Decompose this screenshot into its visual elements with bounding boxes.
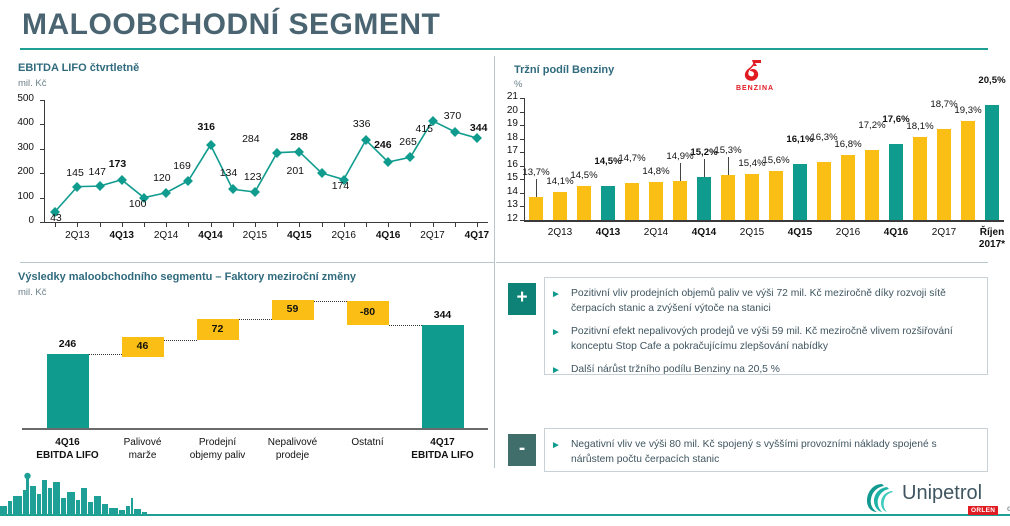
- bullet-arrow-icon: ►: [551, 287, 571, 302]
- waterfall-connector: [239, 319, 272, 320]
- line-value-label: 123: [244, 171, 262, 183]
- waterfall-x-label: Ostatní: [326, 436, 410, 449]
- y-tick: [40, 198, 44, 199]
- bar-chart-title: Tržní podíl Benziny: [514, 64, 614, 76]
- line-value-label: 100: [129, 198, 147, 210]
- line-data-point: [72, 182, 82, 192]
- y-tick-label: 15: [492, 172, 518, 183]
- unipetrol-wordmark: Unipetrol: [902, 482, 982, 505]
- x-tick: [55, 223, 56, 227]
- waterfall-x-label-line: objemy paliv: [176, 449, 260, 462]
- y-tick: [40, 222, 44, 223]
- line-value-label: 288: [290, 131, 308, 143]
- line-data-point: [117, 175, 127, 185]
- bar: [529, 197, 544, 220]
- line-x-tick-label: 4Q16: [366, 230, 410, 241]
- negative-bullet-text: Negativní vliv ve výši 80 mil. Kč spojen…: [571, 438, 977, 467]
- line-value-label: 415: [416, 123, 434, 135]
- line-data-point: [161, 188, 171, 198]
- line-x-tick-label: 2Q16: [322, 230, 366, 241]
- waterfall-x-label-line: Ostatní: [326, 436, 410, 449]
- positive-sign-badge: +: [508, 283, 536, 315]
- waterfall-x-label-line: EBITDA LIFO: [26, 449, 110, 462]
- benzina-wordmark: BENZINA: [724, 85, 786, 92]
- ebitda-lifo-line-chart: 0100200300400500431451471731001201693161…: [0, 92, 492, 252]
- line-data-point: [472, 133, 482, 143]
- waterfall-value-label: 246: [46, 338, 90, 350]
- line-data-point: [383, 157, 393, 167]
- positive-bullets-panel: ►Pozitivní vliv prodejních objemů paliv …: [544, 277, 988, 375]
- line-data-point: [361, 135, 371, 145]
- y-tick-label: 500: [8, 93, 34, 104]
- y-tick-label: 100: [8, 191, 34, 202]
- line-value-label: 336: [353, 118, 371, 130]
- x-tick: [144, 223, 145, 227]
- y-tick-label: 300: [8, 142, 34, 153]
- bullet-arrow-icon: ►: [551, 438, 571, 453]
- positive-bullet-text: Pozitivní efekt nepalivových prodejů ve …: [571, 325, 977, 354]
- x-tick: [299, 223, 300, 227]
- line-data-point: [95, 181, 105, 191]
- line-data-point: [405, 152, 415, 162]
- bar-value-label: 20,5%: [975, 75, 1009, 86]
- negative-bullets-panel: ►Negativní vliv ve výši 80 mil. Kč spoje…: [544, 428, 988, 472]
- y-tick: [40, 173, 44, 174]
- line-value-label: 169: [173, 160, 191, 172]
- line-value-label: 201: [287, 165, 305, 177]
- y-tick: [520, 193, 524, 194]
- waterfall-x-label: Palivovémarže: [101, 436, 185, 462]
- y-tick-label: 12: [492, 213, 518, 224]
- x-tick: [388, 223, 389, 227]
- y-tick-label: 18: [492, 132, 518, 143]
- unipetrol-mark-icon: [866, 482, 900, 514]
- bar-x-tick-label: 2Q14: [632, 227, 680, 239]
- line-data-point: [250, 187, 260, 197]
- line-x-tick-label: 2Q15: [233, 230, 277, 241]
- bar: [937, 129, 952, 220]
- y-tick: [520, 98, 524, 99]
- bar-x-tick-label: 4Q16: [872, 227, 920, 239]
- line-value-label: 134: [220, 167, 238, 179]
- bar-x-tick-label: 2Q17: [920, 227, 968, 239]
- waterfall-x-label-line: marže: [101, 449, 185, 462]
- positive-bullet-text: Další nárůst tržního podílu Benziny na 2…: [571, 363, 780, 378]
- city-skyline-graphic: [0, 468, 180, 516]
- line-value-label: 174: [332, 180, 350, 192]
- bar-x-tick-label: 4Q13: [584, 227, 632, 239]
- waterfall-x-label: Prodejníobjemy paliv: [176, 436, 260, 462]
- y-tick: [40, 124, 44, 125]
- line-value-label: 173: [109, 158, 127, 170]
- waterfall-connector: [89, 354, 122, 355]
- y-tick-label: 13: [492, 199, 518, 210]
- line-x-tick-label: 4Q17: [455, 230, 499, 241]
- waterfall-connector: [314, 301, 347, 302]
- line-data-point: [206, 140, 216, 150]
- line-value-label: 147: [89, 166, 107, 178]
- bar-value-label: 15,3%: [711, 145, 745, 156]
- waterfall-x-label-line: Palivové: [101, 436, 185, 449]
- line-chart-title: EBITDA LIFO čtvrtletně: [18, 62, 139, 74]
- x-tick: [277, 223, 278, 227]
- label-leader-line: [704, 159, 705, 177]
- waterfall-value-label: -80: [346, 306, 390, 318]
- y-tick: [520, 139, 524, 140]
- bar: [985, 105, 1000, 220]
- x-tick: [188, 223, 189, 227]
- x-tick: [77, 223, 78, 227]
- page-title: MALOOBCHODNÍ SEGMENT: [22, 8, 440, 42]
- waterfall-unit: mil. Kč: [18, 287, 47, 298]
- line-value-label: 316: [198, 121, 216, 133]
- waterfall-baseline: [22, 428, 488, 430]
- bar: [817, 162, 832, 220]
- bar-value-label: 14,8%: [639, 166, 673, 177]
- bar: [625, 183, 640, 220]
- line-data-point: [272, 148, 282, 158]
- bar: [601, 186, 616, 220]
- bar-value-label: 16,8%: [831, 139, 865, 150]
- bar-value-label: 15,6%: [759, 155, 793, 166]
- label-leader-line: [728, 157, 729, 175]
- bar-chart-x-axis: [524, 220, 1004, 222]
- bar-x-tick-label: 4Q15: [776, 227, 824, 239]
- bar-chart-y-axis: [524, 98, 525, 220]
- bar-value-label: 14,7%: [615, 153, 649, 164]
- bar: [913, 137, 928, 220]
- bar: [697, 177, 712, 220]
- waterfall-x-label-line: Prodejní: [176, 436, 260, 449]
- y-tick-label: 200: [8, 166, 34, 177]
- y-tick: [520, 206, 524, 207]
- line-chart-y-axis: [44, 100, 45, 222]
- bar-x-tick-label: 2Q13: [536, 227, 584, 239]
- slide-root: MALOOBCHODNÍ SEGMENT EBITDA LIFO čtvrtle…: [0, 0, 1010, 526]
- waterfall-x-label: Nepalivovéprodeje: [251, 436, 335, 462]
- y-tick: [520, 112, 524, 113]
- x-tick: [100, 223, 101, 227]
- positive-bullet-item: ►Pozitivní vliv prodejních objemů paliv …: [551, 287, 977, 316]
- waterfall-x-label: 4Q17EBITDA LIFO: [401, 436, 485, 462]
- negative-sign-badge: -: [508, 434, 536, 466]
- bar-x-tick-label: 4Q14: [680, 227, 728, 239]
- line-value-label: 120: [153, 172, 171, 184]
- y-tick: [40, 100, 44, 101]
- line-data-point: [183, 176, 193, 186]
- bar-x-tick-label-line: 2017*: [968, 239, 1010, 251]
- waterfall-connector: [164, 340, 197, 341]
- line-value-label: 246: [374, 139, 392, 151]
- y-tick-label: 0: [8, 215, 34, 226]
- line-data-point: [294, 147, 304, 157]
- y-tick: [520, 220, 524, 221]
- x-tick: [255, 223, 256, 227]
- title-underline: [20, 48, 988, 50]
- negative-bullet-item: ►Negativní vliv ve výši 80 mil. Kč spoje…: [551, 438, 977, 467]
- line-data-point: [317, 168, 327, 178]
- bar-chart-unit: %: [514, 79, 522, 90]
- bullet-arrow-icon: ►: [551, 363, 571, 378]
- unipetrol-logo: Unipetrol ORLEN GROUP: [866, 482, 998, 522]
- bar: [961, 121, 976, 220]
- line-x-tick-label: 2Q17: [411, 230, 455, 241]
- bar: [721, 175, 736, 220]
- bar: [793, 164, 808, 220]
- positive-bullet-item: ►Pozitivní efekt nepalivových prodejů ve…: [551, 325, 977, 354]
- waterfall-title: Výsledky maloobchodního segmentu – Fakto…: [18, 271, 356, 283]
- y-tick: [40, 149, 44, 150]
- bar-x-tick-label: 2Q15: [728, 227, 776, 239]
- horizontal-divider-right: [496, 262, 988, 263]
- label-leader-line: [680, 163, 681, 181]
- bullet-arrow-icon: ►: [551, 325, 571, 340]
- line-value-label: 265: [399, 136, 417, 148]
- bar-x-tick-label: 2Q16: [824, 227, 872, 239]
- bar: [745, 174, 760, 220]
- y-tick-label: 17: [492, 145, 518, 156]
- waterfall-bar: [47, 354, 89, 428]
- bar: [865, 150, 880, 220]
- horizontal-divider-left: [20, 262, 494, 263]
- bar: [841, 155, 856, 220]
- line-x-tick-label: 4Q13: [100, 230, 144, 241]
- bar: [577, 186, 592, 220]
- line-chart-unit: mil. Kč: [18, 78, 47, 89]
- x-tick: [233, 223, 234, 227]
- bar-value-label: 19,3%: [951, 105, 985, 116]
- line-value-label: 43: [50, 212, 62, 224]
- line-value-label: 284: [242, 133, 260, 145]
- bar-value-label: 14,5%: [567, 170, 601, 181]
- waterfall-connector: [389, 325, 422, 326]
- x-tick: [477, 223, 478, 227]
- label-leader-line: [536, 179, 537, 197]
- x-tick: [455, 223, 456, 227]
- bar: [889, 144, 904, 220]
- x-tick: [211, 223, 212, 227]
- x-tick: [366, 223, 367, 227]
- line-x-tick-label: 4Q14: [189, 230, 233, 241]
- line-chart-x-axis: [44, 222, 488, 223]
- bar-x-tick-label: Říjen2017*: [968, 227, 1010, 251]
- waterfall-x-label-line: prodeje: [251, 449, 335, 462]
- waterfall-x-label-line: Nepalivové: [251, 436, 335, 449]
- benzina-mark-icon: [740, 59, 770, 85]
- waterfall-x-label-line: EBITDA LIFO: [401, 449, 485, 462]
- waterfall-value-label: 72: [196, 323, 240, 335]
- y-tick-label: 19: [492, 118, 518, 129]
- line-value-label: 370: [444, 110, 462, 122]
- line-x-tick-label: 2Q13: [55, 230, 99, 241]
- waterfall-x-label-line: 4Q16: [26, 436, 110, 449]
- x-tick: [122, 223, 123, 227]
- line-x-tick-label: 2Q14: [144, 230, 188, 241]
- line-value-label: 145: [66, 167, 84, 179]
- retail-bridge-waterfall-chart: 246467259-803444Q16EBITDA LIFOPalivovéma…: [0, 300, 492, 470]
- y-tick: [520, 179, 524, 180]
- y-tick-label: 400: [8, 117, 34, 128]
- x-tick: [344, 223, 345, 227]
- line-x-tick-label: 4Q15: [277, 230, 321, 241]
- line-data-point: [228, 184, 238, 194]
- x-tick: [166, 223, 167, 227]
- x-tick: [322, 223, 323, 227]
- y-tick: [520, 125, 524, 126]
- waterfall-value-label: 46: [121, 340, 165, 352]
- positive-bullet-item: ►Další nárůst tržního podílu Benziny na …: [551, 363, 977, 378]
- line-data-point: [450, 127, 460, 137]
- bar: [769, 171, 784, 220]
- x-tick: [410, 223, 411, 227]
- y-tick-label: 16: [492, 159, 518, 170]
- bar-value-label: 18,1%: [903, 121, 937, 132]
- waterfall-x-label: 4Q16EBITDA LIFO: [26, 436, 110, 462]
- bar-x-tick-label-line: Říjen: [968, 227, 1010, 239]
- waterfall-value-label: 344: [421, 309, 465, 321]
- x-tick: [433, 223, 434, 227]
- waterfall-bar: [422, 325, 464, 428]
- y-tick: [520, 152, 524, 153]
- bar: [673, 181, 688, 220]
- orlen-badge: ORLEN: [968, 506, 998, 515]
- waterfall-value-label: 59: [271, 303, 315, 315]
- waterfall-x-label-line: 4Q17: [401, 436, 485, 449]
- y-tick-label: 14: [492, 186, 518, 197]
- positive-bullet-text: Pozitivní vliv prodejních objemů paliv v…: [571, 287, 977, 316]
- line-value-label: 344: [470, 122, 488, 134]
- benzina-logo: BENZINA: [724, 59, 786, 95]
- y-tick-label: 20: [492, 105, 518, 116]
- bar: [553, 192, 568, 220]
- bar: [649, 182, 664, 220]
- y-tick-label: 21: [492, 91, 518, 102]
